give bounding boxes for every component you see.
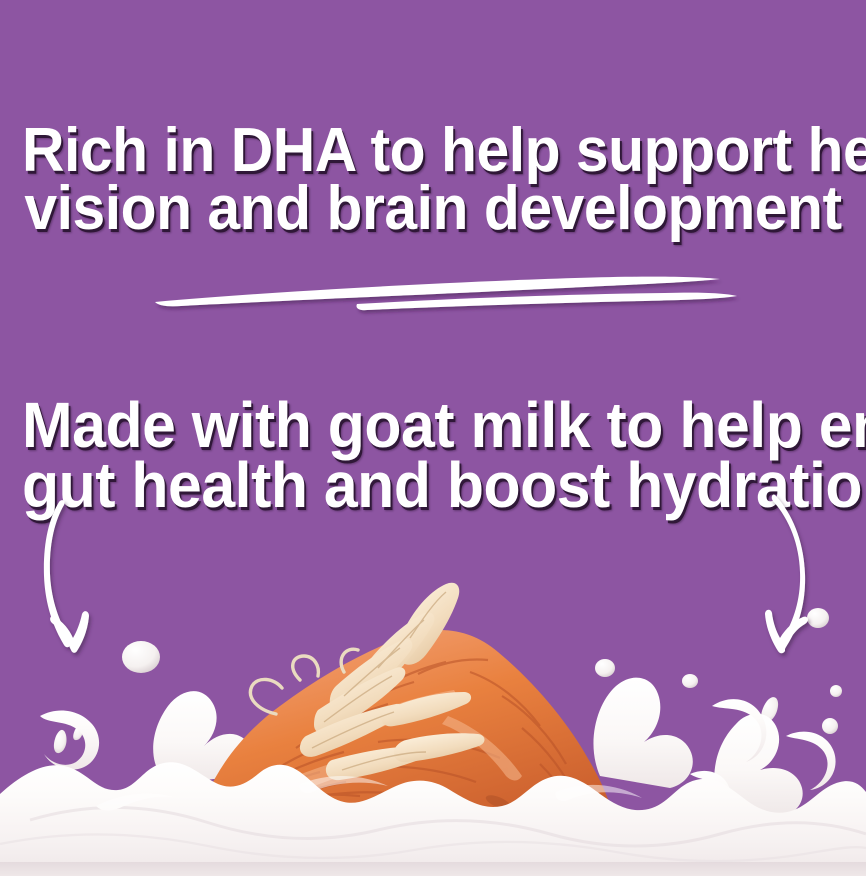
headline-goat-line-2: gut health and boost hydration: [22, 456, 844, 516]
headline-dha-line-2: vision and brain development: [22, 180, 844, 238]
milk-wave-body: [0, 762, 866, 876]
curved-arrow-down-right-icon: [26, 498, 136, 678]
swoosh-underline-icon: [145, 266, 745, 318]
headline-block-dha: Rich in DHA to help support healthy visi…: [0, 122, 866, 237]
headline-goat-line-1: Made with goat milk to help encourage: [22, 396, 844, 456]
promo-poster: Rich in DHA to help support healthy visi…: [0, 0, 866, 876]
curved-arrow-down-left-icon: [742, 490, 852, 680]
headline-dha-line-1: Rich in DHA to help support healthy: [22, 122, 844, 180]
